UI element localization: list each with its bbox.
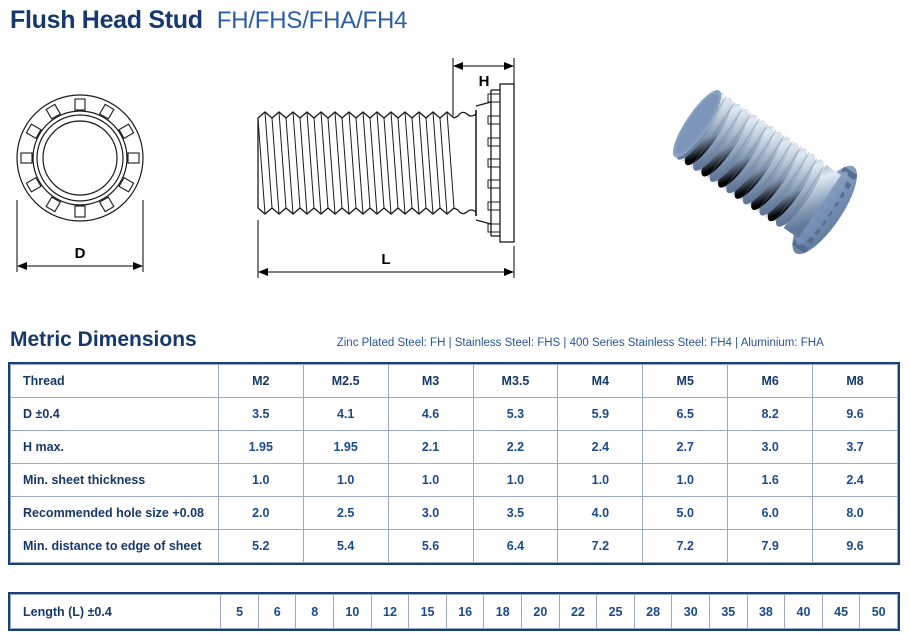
product-photo-3d <box>640 58 905 288</box>
length-cell: 10 <box>334 595 372 629</box>
length-cell: 8 <box>296 595 334 629</box>
cell: 1.0 <box>473 464 558 497</box>
cell: 2.7 <box>643 431 728 464</box>
dimension-label-l: L <box>381 251 390 268</box>
column-header-m6: M6 <box>728 365 813 398</box>
length-cell: 22 <box>559 595 597 629</box>
cell: 2.1 <box>388 431 473 464</box>
length-cell: 35 <box>710 595 748 629</box>
table-header-row: Thread M2 M2.5 M3 M3.5 M4 M5 M6 M8 <box>11 365 898 398</box>
length-table: Length (L) ±0.4 5 6 8 10 12 15 16 18 20 … <box>10 594 898 629</box>
cell: 2.5 <box>303 497 388 530</box>
cell: 5.0 <box>643 497 728 530</box>
end-view-drawing: D <box>8 50 238 290</box>
column-header-thread: Thread <box>11 365 219 398</box>
row-label-min-sheet-thickness: Min. sheet thickness <box>11 464 219 497</box>
length-cell: 12 <box>371 595 409 629</box>
length-table-body: Length (L) ±0.4 5 6 8 10 12 15 16 18 20 … <box>11 595 898 629</box>
cell: 5.3 <box>473 398 558 431</box>
length-cell: 30 <box>672 595 710 629</box>
row-label-length: Length (L) ±0.4 <box>11 595 221 629</box>
cell: 9.6 <box>813 398 898 431</box>
cell: 2.4 <box>813 464 898 497</box>
cell: 2.0 <box>218 497 303 530</box>
cell: 7.9 <box>728 530 813 563</box>
materials-note: Zinc Plated Steel: FH | Stainless Steel:… <box>337 337 824 349</box>
column-header-m25: M2.5 <box>303 365 388 398</box>
cell: 4.1 <box>303 398 388 431</box>
drawings-area: D <box>0 50 910 295</box>
cell: 1.0 <box>218 464 303 497</box>
row-label-d: D ±0.4 <box>11 398 219 431</box>
table-row: D ±0.4 3.5 4.1 4.6 5.3 5.9 6.5 8.2 9.6 <box>11 398 898 431</box>
column-header-m5: M5 <box>643 365 728 398</box>
cell: 7.2 <box>558 530 643 563</box>
cell: 1.95 <box>218 431 303 464</box>
cell: 4.6 <box>388 398 473 431</box>
cell: 2.2 <box>473 431 558 464</box>
cell: 5.6 <box>388 530 473 563</box>
cell: 1.95 <box>303 431 388 464</box>
table-row: H max. 1.95 1.95 2.1 2.2 2.4 2.7 3.0 3.7 <box>11 431 898 464</box>
length-cell: 28 <box>634 595 672 629</box>
length-cell: 18 <box>484 595 522 629</box>
datasheet-page: Flush Head Stud FH/FHS/FHA/FH4 <box>0 0 910 634</box>
cell: 3.0 <box>728 431 813 464</box>
table-row: Recommended hole size +0.08 2.0 2.5 3.0 … <box>11 497 898 530</box>
cell: 7.2 <box>643 530 728 563</box>
table-row: Min. sheet thickness 1.0 1.0 1.0 1.0 1.0… <box>11 464 898 497</box>
cell: 9.6 <box>813 530 898 563</box>
cell: 3.5 <box>473 497 558 530</box>
length-cell: 38 <box>747 595 785 629</box>
dimension-label-d: D <box>75 245 86 262</box>
length-cell: 20 <box>522 595 560 629</box>
length-cell: 40 <box>785 595 823 629</box>
cell: 6.5 <box>643 398 728 431</box>
cell: 5.9 <box>558 398 643 431</box>
column-header-m2: M2 <box>218 365 303 398</box>
cell: 1.6 <box>728 464 813 497</box>
dimension-label-h: H <box>479 73 490 90</box>
column-header-m35: M3.5 <box>473 365 558 398</box>
table-body: Thread M2 M2.5 M3 M3.5 M4 M5 M6 M8 D ±0.… <box>11 365 898 563</box>
page-subtitle: FH/FHS/FHA/FH4 <box>217 7 408 35</box>
length-cell: 16 <box>446 595 484 629</box>
length-cell: 50 <box>860 595 898 629</box>
length-cell: 25 <box>597 595 635 629</box>
cell: 8.2 <box>728 398 813 431</box>
side-view-drawing: H L <box>248 50 528 290</box>
page-header: Flush Head Stud FH/FHS/FHA/FH4 <box>10 6 407 35</box>
section-header: Metric Dimensions Zinc Plated Steel: FH … <box>10 328 900 352</box>
cell: 3.7 <box>813 431 898 464</box>
cell: 5.2 <box>218 530 303 563</box>
cell: 1.0 <box>643 464 728 497</box>
cell: 5.4 <box>303 530 388 563</box>
row-label-h-max: H max. <box>11 431 219 464</box>
cell: 2.4 <box>558 431 643 464</box>
row-label-recommended-hole-size: Recommended hole size +0.08 <box>11 497 219 530</box>
row-label-min-distance-to-edge: Min. distance to edge of sheet <box>11 530 219 563</box>
cell: 1.0 <box>558 464 643 497</box>
cell: 4.0 <box>558 497 643 530</box>
cell: 8.0 <box>813 497 898 530</box>
length-row: Length (L) ±0.4 5 6 8 10 12 15 16 18 20 … <box>11 595 898 629</box>
section-title: Metric Dimensions <box>10 328 197 352</box>
cell: 6.4 <box>473 530 558 563</box>
length-cell: 5 <box>221 595 259 629</box>
length-cell: 6 <box>258 595 296 629</box>
column-header-m3: M3 <box>388 365 473 398</box>
cell: 3.5 <box>218 398 303 431</box>
column-header-m8: M8 <box>813 365 898 398</box>
cell: 3.0 <box>388 497 473 530</box>
length-cell: 15 <box>409 595 447 629</box>
column-header-m4: M4 <box>558 365 643 398</box>
length-cell: 45 <box>822 595 860 629</box>
cell: 1.0 <box>388 464 473 497</box>
page-title: Flush Head Stud <box>10 6 203 35</box>
cell: 6.0 <box>728 497 813 530</box>
cell: 1.0 <box>303 464 388 497</box>
metric-dimensions-table: Thread M2 M2.5 M3 M3.5 M4 M5 M6 M8 D ±0.… <box>10 364 898 563</box>
table-row: Min. distance to edge of sheet 5.2 5.4 5… <box>11 530 898 563</box>
